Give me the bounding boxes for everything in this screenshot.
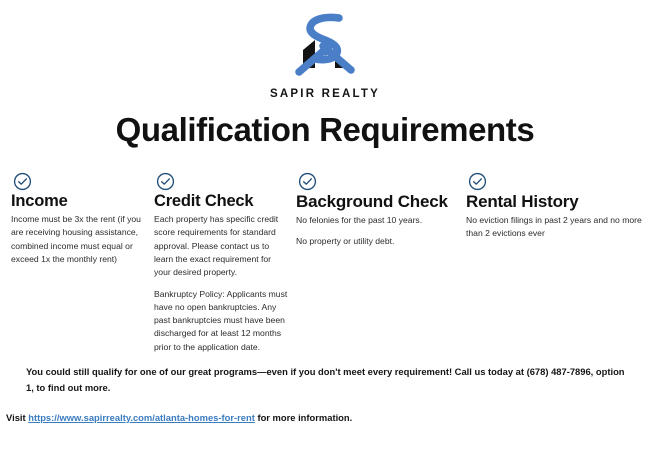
qualification-callout: You could still qualify for one of our g…	[26, 364, 626, 395]
requirement-heading: Background Check	[296, 192, 464, 212]
brand-wordmark: SAPIR REALTY	[0, 89, 650, 101]
requirement-text: No felonies for the past 10 years.	[296, 214, 464, 227]
page-title: Qualification Requirements	[0, 112, 650, 148]
requirement-heading: Rental History	[466, 192, 644, 212]
check-circle-icon	[468, 172, 487, 191]
requirement-column-background-check: Background Check No felonies for the pas…	[296, 172, 464, 248]
requirement-text-secondary: No property or utility debt.	[296, 235, 464, 248]
requirement-column-income: Income Income must be 3x the rent (if yo…	[11, 172, 151, 266]
check-circle-icon	[298, 172, 317, 191]
requirement-text: No eviction filings in past 2 years and …	[466, 214, 644, 241]
visit-prefix: Visit	[6, 412, 28, 423]
sapir-realty-monogram-icon	[277, 12, 373, 88]
visit-website-line: Visit https://www.sapirrealty.com/atlant…	[6, 411, 626, 425]
requirement-column-rental-history: Rental History No eviction filings in pa…	[466, 172, 644, 240]
check-circle-icon	[156, 172, 175, 191]
check-circle-icon	[13, 172, 32, 191]
requirement-text-secondary: Bankruptcy Policy: Applicants must have …	[154, 288, 289, 355]
brand-logo: SAPIR REALTY	[0, 12, 650, 101]
requirement-column-credit-check: Credit Check Each property has specific …	[154, 172, 289, 354]
requirement-text: Income must be 3x the rent (if you are r…	[11, 213, 151, 266]
visit-suffix: for more information.	[255, 412, 352, 423]
requirements-columns: Income Income must be 3x the rent (if yo…	[0, 172, 650, 357]
requirement-heading: Credit Check	[154, 192, 289, 211]
requirement-text: Each property has specific credit score …	[154, 213, 289, 280]
requirement-heading: Income	[11, 192, 151, 211]
website-link[interactable]: https://www.sapirrealty.com/atlanta-home…	[28, 412, 255, 423]
